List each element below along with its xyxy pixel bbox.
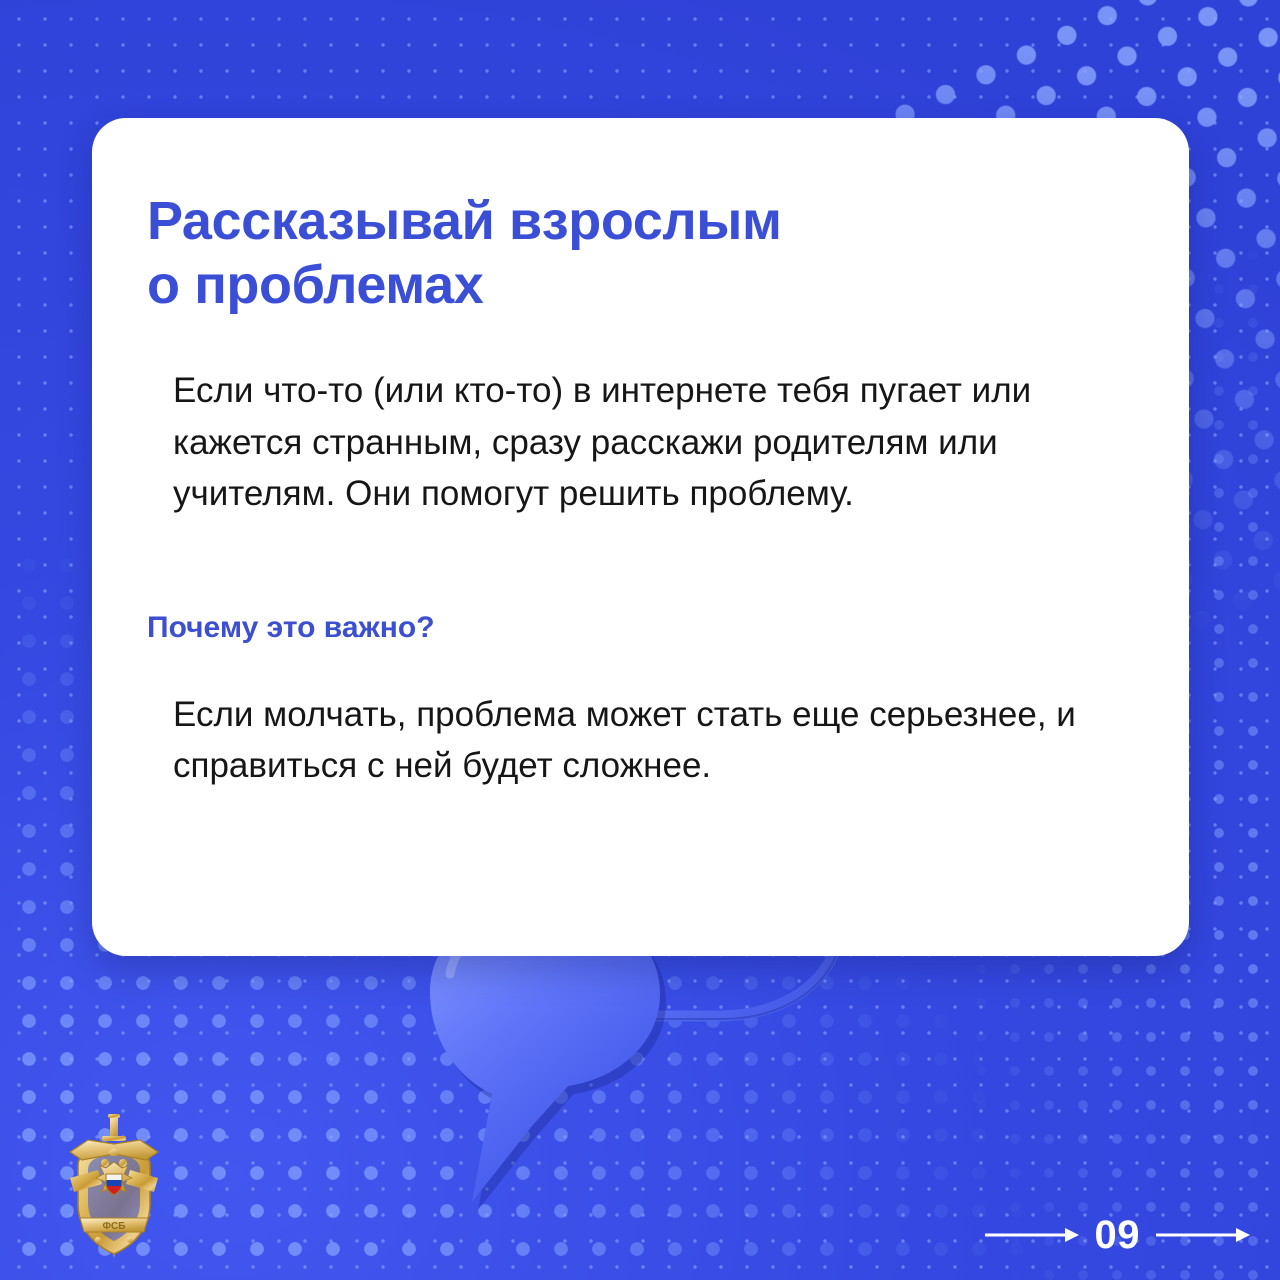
- content-card: Рассказывай взрослым о проблемах Если чт…: [92, 118, 1189, 956]
- paragraph-primary: Если что-то (или кто-то) в интернете теб…: [173, 365, 1125, 518]
- subheading-why-important: Почему это важно?: [147, 519, 1125, 645]
- page-title: Рассказывай взрослым о проблемах: [147, 190, 1125, 317]
- fsb-emblem-svg: ФСБ: [58, 1108, 170, 1260]
- slide-canvas: Рассказывай взрослым о проблемах Если чт…: [0, 0, 1280, 1280]
- page-number: 09: [1095, 1215, 1141, 1255]
- arrow-right-icon: [1154, 1226, 1252, 1244]
- emblem-banner: ФСБ: [80, 1218, 148, 1232]
- emblem-banner-text: ФСБ: [103, 1221, 126, 1232]
- arrow-right-icon: [983, 1226, 1081, 1244]
- paragraph-secondary: Если молчать, проблема может стать еще с…: [173, 689, 1125, 791]
- body-block: Если что-то (или кто-то) в интернете теб…: [173, 365, 1125, 518]
- fsb-emblem: ФСБ: [58, 1108, 170, 1260]
- page-indicator: 09: [983, 1212, 1253, 1258]
- card-inner: Рассказывай взрослым о проблемах Если чт…: [92, 118, 1189, 791]
